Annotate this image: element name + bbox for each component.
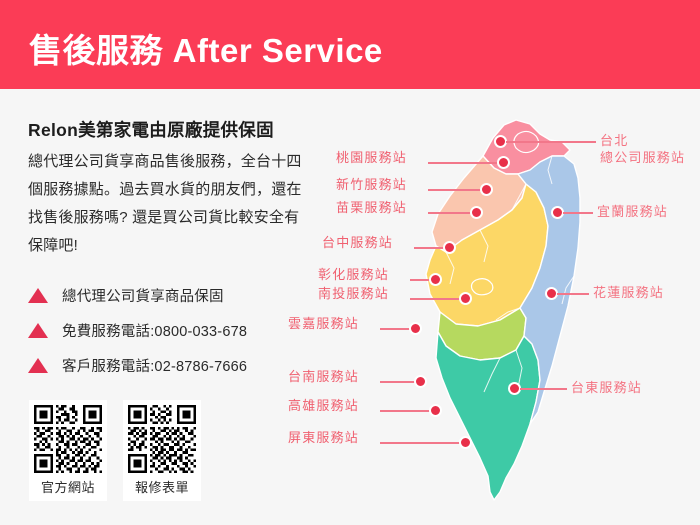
station-label-miaoli: 苗栗服務站 bbox=[336, 200, 407, 216]
station-dot-changhua[interactable] bbox=[429, 273, 442, 286]
triangle-up-icon bbox=[28, 288, 48, 303]
station-dot-nantou[interactable] bbox=[459, 292, 472, 305]
leader-line-taoyuan bbox=[428, 162, 500, 164]
station-label-taitung: 台東服務站 bbox=[571, 380, 642, 396]
station-dot-taichung[interactable] bbox=[443, 241, 456, 254]
list-item: 總代理公司貨享商品保固 bbox=[28, 278, 328, 313]
taiwan-map-svg bbox=[380, 112, 620, 507]
triangle-up-icon bbox=[28, 358, 48, 373]
leader-line-hsinchu bbox=[428, 189, 483, 191]
qr-code-icon bbox=[34, 405, 102, 473]
triangle-up-icon bbox=[28, 323, 48, 338]
station-dot-hsinchu[interactable] bbox=[480, 183, 493, 196]
leader-line-miaoli bbox=[428, 212, 473, 214]
station-label-yilan: 宜蘭服務站 bbox=[597, 204, 668, 220]
taiwan-map bbox=[380, 112, 620, 507]
leader-line-pingtung bbox=[380, 442, 462, 444]
leader-line-yunchia bbox=[380, 328, 412, 330]
qr-card-website[interactable]: 官方網站 bbox=[29, 400, 107, 501]
station-label-taipei: 台北 bbox=[600, 133, 628, 149]
station-dot-tainan[interactable] bbox=[414, 375, 427, 388]
qr-code-group: 官方網站 bbox=[29, 400, 201, 501]
station-label-tainan: 台南服務站 bbox=[288, 369, 359, 385]
station-label-hualien: 花蓮服務站 bbox=[593, 285, 664, 301]
page-header: 售後服務 After Service bbox=[0, 0, 700, 89]
list-item: 客戶服務電話:02-8786-7666 bbox=[28, 348, 328, 383]
station-dot-pingtung[interactable] bbox=[459, 436, 472, 449]
after-service-infographic: 售後服務 After Service Relon美第家電由原廠提供保固 總代理公… bbox=[0, 0, 700, 525]
leader-line-taipei bbox=[506, 141, 596, 143]
lead-heading: Relon美第家電由原廠提供保固 bbox=[28, 117, 274, 142]
leader-line-yilan bbox=[563, 212, 593, 214]
qr-code-icon bbox=[128, 405, 196, 473]
leader-line-kaohsiung bbox=[380, 410, 432, 412]
body-paragraph: 總代理公司貨享商品售後服務，全台十四個服務據點。過去買水貨的朋友們，還在找售後服… bbox=[28, 148, 308, 260]
leader-line-taichung bbox=[414, 247, 446, 249]
station-dot-miaoli[interactable] bbox=[470, 206, 483, 219]
list-item-label: 免費服務電話:0800-033-678 bbox=[62, 320, 247, 341]
station-label-taipei-hq: 總公司服務站 bbox=[600, 150, 685, 166]
list-item: 免費服務電話:0800-033-678 bbox=[28, 313, 328, 348]
station-label-taichung: 台中服務站 bbox=[322, 235, 393, 251]
station-dot-taoyuan[interactable] bbox=[497, 156, 510, 169]
station-label-pingtung: 屏東服務站 bbox=[288, 430, 359, 446]
leader-line-hualien bbox=[557, 293, 589, 295]
station-label-changhua: 彰化服務站 bbox=[318, 267, 389, 283]
qr-caption: 官方網站 bbox=[41, 477, 95, 496]
leader-line-taitung bbox=[520, 388, 567, 390]
feature-bullet-list: 總代理公司貨享商品保固 免費服務電話:0800-033-678 客戶服務電話:0… bbox=[28, 278, 328, 383]
page-title: 售後服務 After Service bbox=[29, 24, 383, 72]
station-label-nantou: 南投服務站 bbox=[318, 286, 389, 302]
qr-caption: 報修表單 bbox=[135, 477, 189, 496]
station-dot-yunchia[interactable] bbox=[409, 322, 422, 335]
leader-line-tainan bbox=[380, 381, 417, 383]
station-label-yunchia: 雲嘉服務站 bbox=[288, 316, 359, 332]
list-item-label: 總代理公司貨享商品保固 bbox=[62, 285, 224, 306]
station-label-hsinchu: 新竹服務站 bbox=[336, 177, 407, 193]
qr-card-repair-form[interactable]: 報修表單 bbox=[123, 400, 201, 501]
leader-line-nantou bbox=[410, 298, 462, 300]
list-item-label: 客戶服務電話:02-8786-7666 bbox=[62, 355, 247, 376]
station-dot-kaohsiung[interactable] bbox=[429, 404, 442, 417]
station-label-taoyuan: 桃園服務站 bbox=[336, 150, 407, 166]
station-label-kaohsiung: 高雄服務站 bbox=[288, 398, 359, 414]
